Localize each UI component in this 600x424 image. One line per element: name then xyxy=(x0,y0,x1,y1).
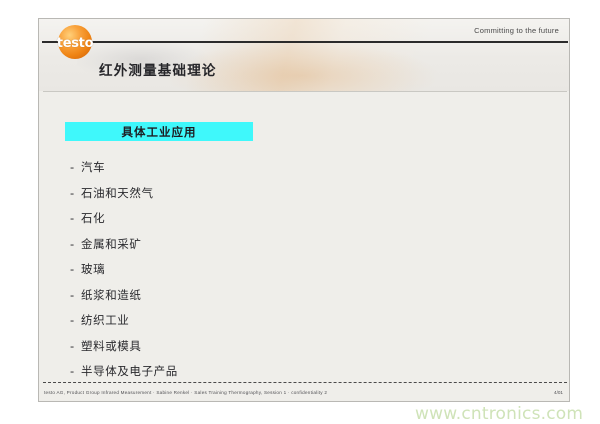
bullet-label: 石油和天然气 xyxy=(81,185,154,201)
bullet-label: 纸浆和造纸 xyxy=(81,287,142,303)
list-item: - 汽车 xyxy=(70,159,510,185)
bullet-label: 玻璃 xyxy=(81,261,105,277)
site-watermark: www.cntronics.com xyxy=(415,404,583,424)
presentation-slide: Committing to the future testo 红外测量基础理论 … xyxy=(38,18,570,402)
header-divider-rule xyxy=(42,41,568,43)
slide-header: Committing to the future testo 红外测量基础理论 xyxy=(39,19,569,91)
list-item: - 塑料或模具 xyxy=(70,338,510,364)
bullet-marker: - xyxy=(70,364,81,378)
page-title: 红外测量基础理论 xyxy=(99,59,217,79)
bullet-marker: - xyxy=(70,186,81,200)
footer-divider-rule xyxy=(43,382,567,383)
list-item: - 半导体及电子产品 xyxy=(70,363,510,389)
testo-logo: testo xyxy=(58,25,92,59)
section-banner: 具体工业应用 xyxy=(65,122,253,141)
slide-body: 具体工业应用 - 汽车 - 石油和天然气 - 石化 - 金属和采矿 - 玻璃 xyxy=(39,91,569,401)
company-tagline: Committing to the future xyxy=(474,26,559,35)
bullet-label: 纺织工业 xyxy=(81,312,129,328)
bullet-marker: - xyxy=(70,262,81,276)
bullet-marker: - xyxy=(70,237,81,251)
list-item: - 石化 xyxy=(70,210,510,236)
bullet-marker: - xyxy=(70,288,81,302)
bullet-marker: - xyxy=(70,339,81,353)
list-item: - 石油和天然气 xyxy=(70,185,510,211)
footer-page-number: 4/01 xyxy=(554,390,563,395)
section-banner-label: 具体工业应用 xyxy=(122,124,197,140)
bullet-marker: - xyxy=(70,211,81,225)
footer-credit: testo AG, Product Group Infrared Measure… xyxy=(44,390,327,395)
list-item: - 纸浆和造纸 xyxy=(70,287,510,313)
bullet-label: 塑料或模具 xyxy=(81,338,142,354)
bullet-list: - 汽车 - 石油和天然气 - 石化 - 金属和采矿 - 玻璃 - 纸浆和造纸 xyxy=(70,159,510,389)
body-top-divider xyxy=(43,91,567,92)
bullet-label: 金属和采矿 xyxy=(81,236,142,252)
bullet-label: 汽车 xyxy=(81,159,105,175)
list-item: - 玻璃 xyxy=(70,261,510,287)
logo-wordmark: testo xyxy=(46,36,104,51)
bullet-marker: - xyxy=(70,313,81,327)
bullet-label: 半导体及电子产品 xyxy=(81,363,178,379)
list-item: - 金属和采矿 xyxy=(70,236,510,262)
bullet-label: 石化 xyxy=(81,210,105,226)
list-item: - 纺织工业 xyxy=(70,312,510,338)
bullet-marker: - xyxy=(70,160,81,174)
